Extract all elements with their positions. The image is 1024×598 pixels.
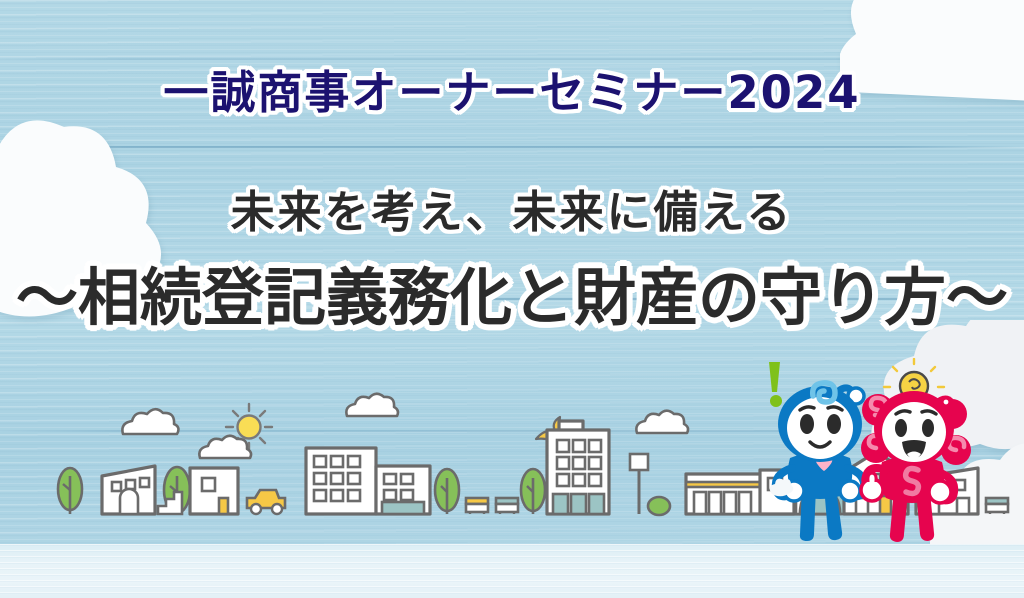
text-layer: 一誠商事オーナーセミナー2024 未来を考え、未来に備える 〜相続登記義務化と財… bbox=[0, 0, 1024, 598]
banner-tagline: 〜相続登記義務化と財産の守り方〜 bbox=[0, 247, 1024, 337]
seminar-banner: .bo{fill:#fff;stroke:#6b6b6b;stroke-widt… bbox=[0, 0, 1024, 598]
banner-title: 一誠商事オーナーセミナー2024 bbox=[0, 56, 1024, 121]
banner-subtitle: 未来を考え、未来に備える bbox=[0, 176, 1024, 240]
